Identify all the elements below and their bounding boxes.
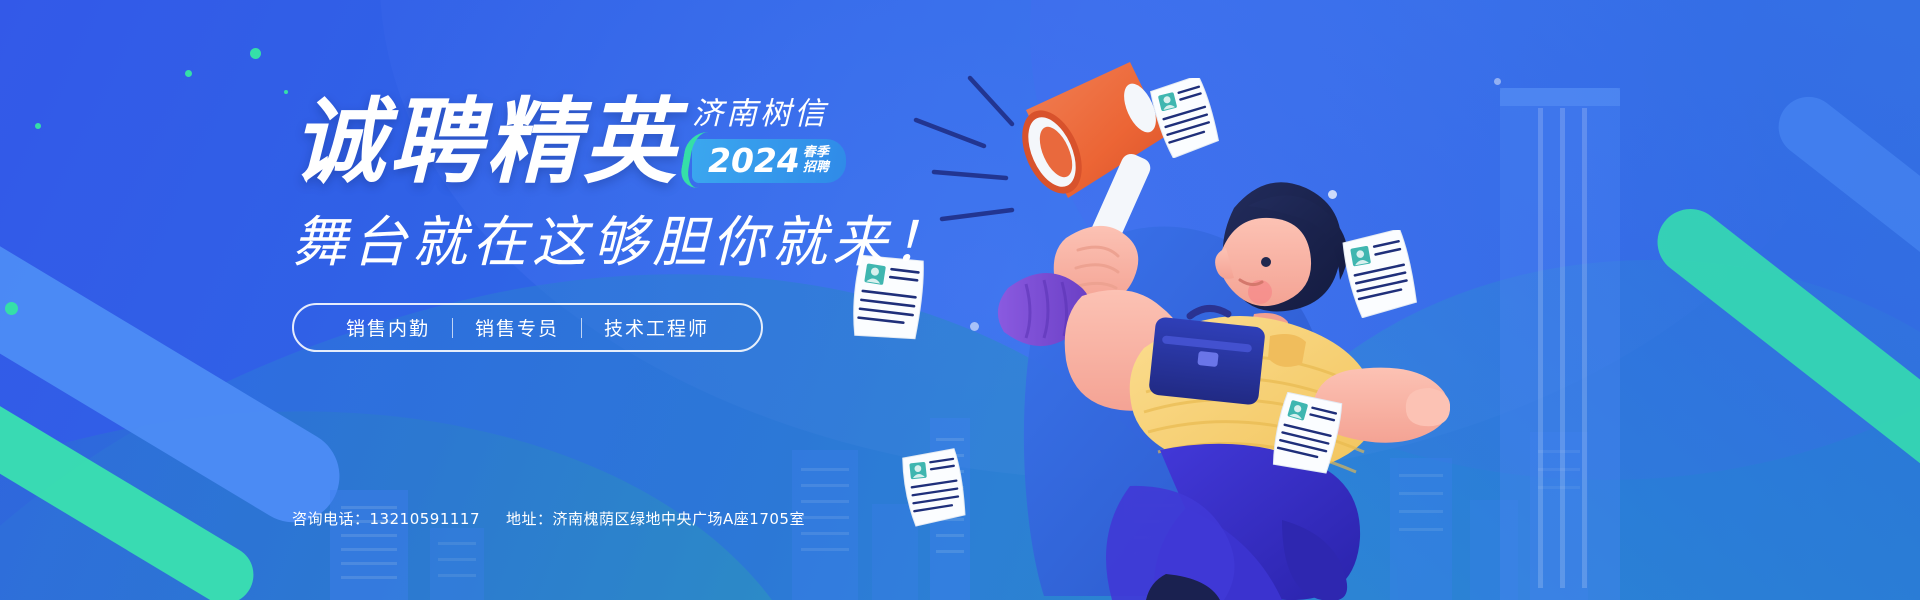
job-tag-group: 销售内勤 销售专员 技术工程师 [292,303,763,352]
contact-info: 咨询电话：13210591117 地址：济南槐荫区绿地中央广场A座1705室 [292,508,805,529]
address-value: 济南槐荫区绿地中央广场A座1705室 [553,510,805,528]
company-name: 济南树信 [692,99,846,130]
tower-line [1582,108,1587,588]
accent-dot [1494,78,1501,85]
accent-dot [5,302,18,315]
accent-dot [250,48,261,59]
page-title: 诚聘精英 [292,96,680,189]
tower-cap [1500,88,1620,106]
character-head [1215,182,1347,311]
banner-content: 诚聘精英 济南树信 2024 春季 招聘 舞台就在这够胆你就来！ 销售内勤 销售… [292,96,992,352]
phone-label: 咨询电话： [292,510,370,528]
resume-paper-icon [1340,230,1420,322]
badge-accent-mark [678,132,708,188]
job-tag-technical-engineer[interactable]: 技术工程师 [582,314,731,341]
season-badge: 2024 春季 招聘 [692,139,846,183]
resume-paper-icon [898,448,970,532]
phone-block: 咨询电话：13210591117 [292,508,480,529]
job-tag-sales-specialist[interactable]: 销售专员 [453,314,581,341]
recruitment-banner: 诚聘精英 济南树信 2024 春季 招聘 舞台就在这够胆你就来！ 销售内勤 销售… [0,0,1920,600]
phone-number[interactable]: 13210591117 [370,510,480,528]
tower-line [1538,108,1543,588]
badge-sub-line1: 春季 [803,145,829,160]
address-block: 地址：济南槐荫区绿地中央广场A座1705室 [506,508,805,529]
accent-dot [284,90,288,94]
headline-row: 诚聘精英 济南树信 2024 春季 招聘 [292,96,992,189]
subtitle: 舞台就在这够胆你就来！ [292,211,992,274]
resume-paper-icon [1268,392,1344,480]
job-tag-sales-assistant[interactable]: 销售内勤 [324,314,452,341]
accent-dot [35,123,41,129]
badge-year: 2024 [708,144,800,177]
badge-sub-line2: 招聘 [803,160,829,175]
brand-block: 济南树信 2024 春季 招聘 [692,99,846,189]
tower-line [1560,108,1565,588]
address-label: 地址： [506,510,553,528]
badge-subtext: 春季 招聘 [803,146,829,174]
resume-paper-icon [1150,78,1220,162]
accent-dot [185,70,192,77]
